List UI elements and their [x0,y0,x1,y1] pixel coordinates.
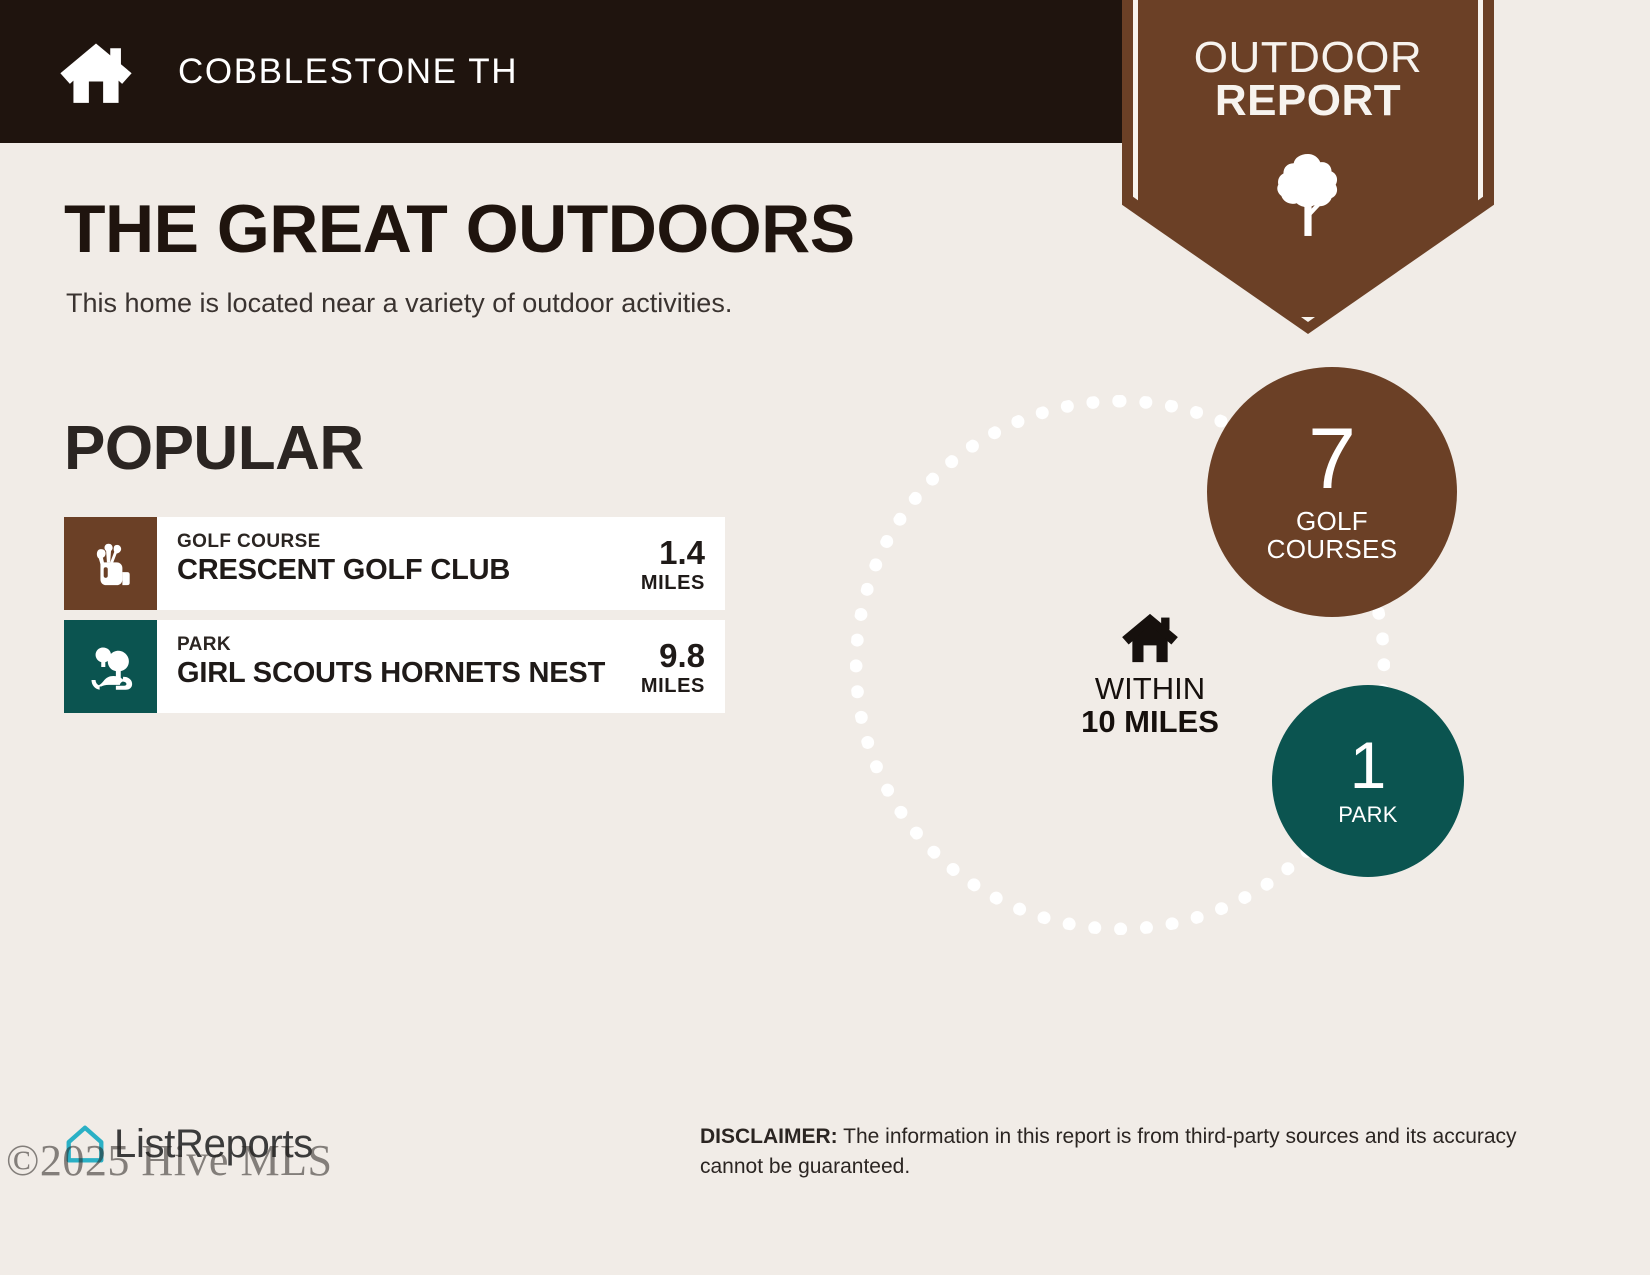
stat-label-line-1: GOLF [1296,506,1368,536]
badge-line-1: OUTDOOR [1122,36,1494,79]
poi-name: CRESCENT GOLF CLUB [177,554,625,586]
stat-bubble-golf-courses[interactable]: 7 GOLF COURSES [1207,367,1457,617]
within-radius-diagram: WITHIN 10 MILES 7 GOLF COURSES 1 PARK [820,350,1540,1000]
page-subheadline: This home is located near a variety of o… [66,288,732,319]
stat-count: 1 [1350,736,1387,795]
within-line-1: WITHIN [1020,672,1280,705]
poi-distance-value: 1.4 [625,536,705,569]
badge-line-2: REPORT [1122,79,1494,122]
stat-label: GOLF COURSES [1267,508,1398,563]
page-headline: THE GREAT OUTDOORS [64,195,855,263]
popular-poi-list: GOLF COURSE CRESCENT GOLF CLUB 1.4 MILES… [64,517,725,723]
poi-text: PARK GIRL SCOUTS HORNETS NEST [157,620,625,713]
list-item[interactable]: PARK GIRL SCOUTS HORNETS NEST 9.8 MILES [64,620,725,713]
poi-name: GIRL SCOUTS HORNETS NEST [177,657,625,689]
popular-section-title: POPULAR [64,418,364,480]
golf-bag-icon [85,538,137,590]
stat-bubble-parks[interactable]: 1 PARK [1272,685,1464,877]
poi-category: GOLF COURSE [177,532,625,552]
page-header: COBBLESTONE TH [0,0,1280,143]
poi-icon-container [64,517,157,610]
poi-category: PARK [177,635,625,655]
page-title: COBBLESTONE TH [178,52,518,92]
stat-label: PARK [1338,803,1397,826]
badge-text: OUTDOOR REPORT [1122,36,1494,122]
poi-icon-container [64,620,157,713]
poi-distance: 1.4 MILES [625,517,725,610]
outdoor-report-badge: OUTDOOR REPORT [1122,0,1494,334]
tree-icon [1275,152,1341,238]
poi-distance-unit: MILES [625,672,705,700]
poi-text: GOLF COURSE CRESCENT GOLF CLUB [157,517,625,610]
home-icon [1119,612,1181,664]
within-radius-label: WITHIN 10 MILES [1020,612,1280,739]
stat-label-line-2: COURSES [1267,534,1398,564]
home-icon [58,34,134,110]
park-trees-icon [85,641,137,693]
poi-distance-unit: MILES [625,569,705,597]
disclaimer-label: DISCLAIMER: [700,1125,838,1148]
list-item[interactable]: GOLF COURSE CRESCENT GOLF CLUB 1.4 MILES [64,517,725,610]
poi-distance-value: 9.8 [625,639,705,672]
disclaimer: DISCLAIMER: The information in this repo… [700,1122,1530,1182]
within-line-2: 10 MILES [1020,705,1280,738]
poi-distance: 9.8 MILES [625,620,725,713]
mls-watermark: ©2025 Hive MLS [6,1135,332,1186]
stat-count: 7 [1308,421,1356,498]
